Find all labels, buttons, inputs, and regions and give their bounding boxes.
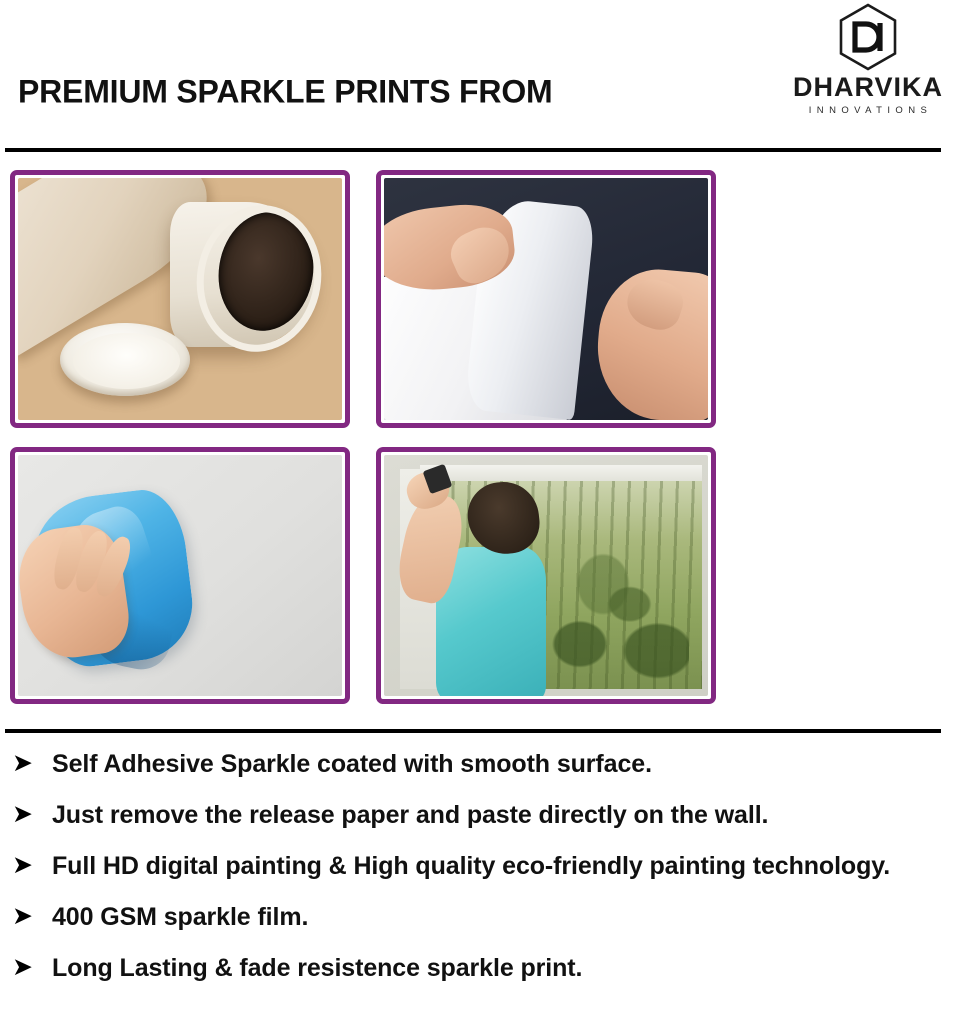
photo-peel-release-paper <box>376 170 716 428</box>
brand-tagline: INNOVATIONS <box>804 105 932 116</box>
list-item: ➤ Self Adhesive Sparkle coated with smoo… <box>0 750 968 801</box>
tube-cap-inner-shape <box>73 333 180 389</box>
list-item: ➤ Long Lasting & fade resistence sparkle… <box>0 954 968 1005</box>
arrow-bullet-icon: ➤ <box>12 750 52 775</box>
feature-list: ➤ Self Adhesive Sparkle coated with smoo… <box>0 750 968 1005</box>
arrow-bullet-icon: ➤ <box>12 801 52 826</box>
photo-apply-mural <box>376 447 716 704</box>
mural-foliage-shape <box>533 551 689 684</box>
arrow-bullet-icon: ➤ <box>12 954 52 979</box>
photo-rolled-film <box>10 170 350 428</box>
header-divider <box>5 148 941 152</box>
feature-text: Long Lasting & fade resistence sparkle p… <box>52 954 582 983</box>
arrow-bullet-icon: ➤ <box>12 903 52 928</box>
feature-text: Full HD digital painting & High quality … <box>52 852 890 881</box>
list-item: ➤ Full HD digital painting & High qualit… <box>0 852 968 903</box>
page-header: PREMIUM SPARKLE PRINTS FROM DHARVIKA INN… <box>0 0 968 140</box>
di-hexagon-logo-icon <box>835 2 901 72</box>
brand-logo: DHARVIKA INNOVATIONS <box>776 2 960 116</box>
feature-text: Self Adhesive Sparkle coated with smooth… <box>52 750 652 779</box>
arrow-bullet-icon: ➤ <box>12 852 52 877</box>
page-title: PREMIUM SPARKLE PRINTS FROM <box>18 74 552 111</box>
brand-name: DHARVIKA <box>793 74 943 101</box>
list-item: ➤ 400 GSM sparkle film. <box>0 903 968 954</box>
feature-text: 400 GSM sparkle film. <box>52 903 308 932</box>
photo-wipe-wall <box>10 447 350 704</box>
list-item: ➤ Just remove the release paper and past… <box>0 801 968 852</box>
product-photo-grid <box>10 170 726 715</box>
mural-top-edge-shape <box>420 465 702 482</box>
feature-text: Just remove the release paper and paste … <box>52 801 768 830</box>
features-divider <box>5 729 941 733</box>
